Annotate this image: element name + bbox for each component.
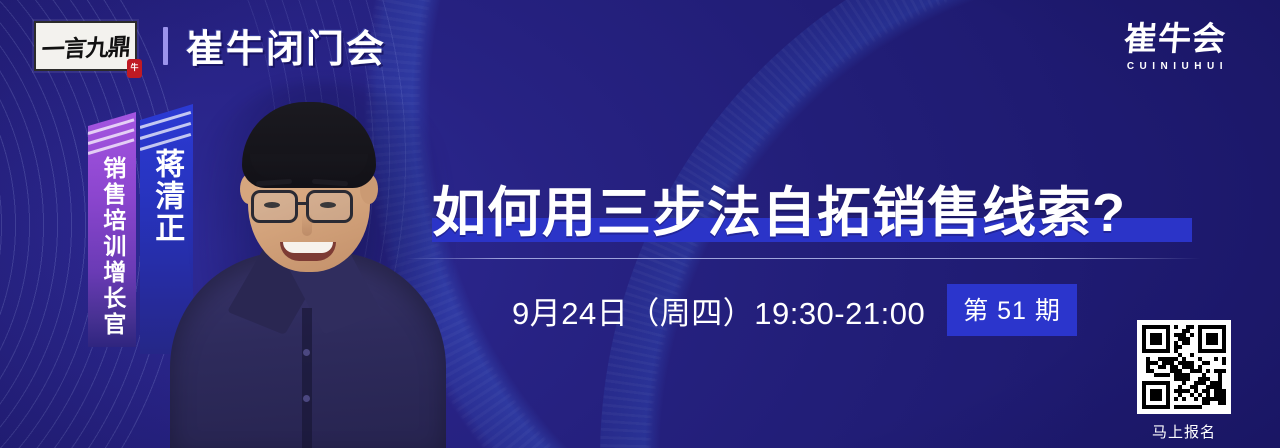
signup-qr-block[interactable]: 马上报名	[1124, 320, 1244, 442]
brand-name: 崔牛会	[1120, 22, 1229, 55]
event-datetime: 9月24日（周四）19:30-21:00	[512, 288, 925, 333]
speaker-portrait	[152, 62, 462, 448]
portrait-glasses-right	[306, 190, 353, 223]
portrait-glasses-left	[251, 190, 298, 223]
seal-logo-text: 一言九鼎	[40, 27, 131, 64]
portrait-teeth	[283, 242, 333, 253]
seal-logo: 一言九鼎 牛	[34, 21, 137, 71]
portrait-nose	[302, 214, 312, 236]
portrait-shirt-button	[303, 395, 310, 402]
portrait-shirt-button	[303, 349, 310, 356]
portrait-glasses-bridge	[298, 202, 306, 205]
header: 一言九鼎 牛 崔牛闭门会	[34, 18, 386, 73]
horizontal-divider	[406, 258, 1201, 259]
speaker-role-ribbon: 销售培训增长官	[88, 112, 136, 347]
event-banner: 一言九鼎 牛 崔牛闭门会 崔牛会 CUINIUHUI 销售培训增长官 蒋清正	[0, 0, 1280, 448]
qr-label: 马上报名	[1124, 421, 1244, 442]
main-title-block: 如何用三步法自拓销售线索?	[432, 168, 1126, 247]
main-title: 如何用三步法自拓销售线索?	[432, 168, 1126, 247]
event-meta: 9月24日（周四）19:30-21:00 第 51 期	[512, 284, 1077, 336]
portrait-shirt-placket	[302, 308, 312, 448]
red-seal-icon: 牛	[127, 59, 142, 78]
issue-badge: 第 51 期	[947, 284, 1077, 336]
brand-logo: 崔牛会 CUINIUHUI	[1122, 22, 1228, 72]
header-divider	[163, 27, 168, 65]
header-title: 崔牛闭门会	[186, 18, 386, 73]
speaker-role-text: 销售培训增长官	[99, 156, 125, 338]
qr-code[interactable]	[1137, 320, 1231, 414]
brand-pinyin: CUINIUHUI	[1122, 61, 1228, 72]
